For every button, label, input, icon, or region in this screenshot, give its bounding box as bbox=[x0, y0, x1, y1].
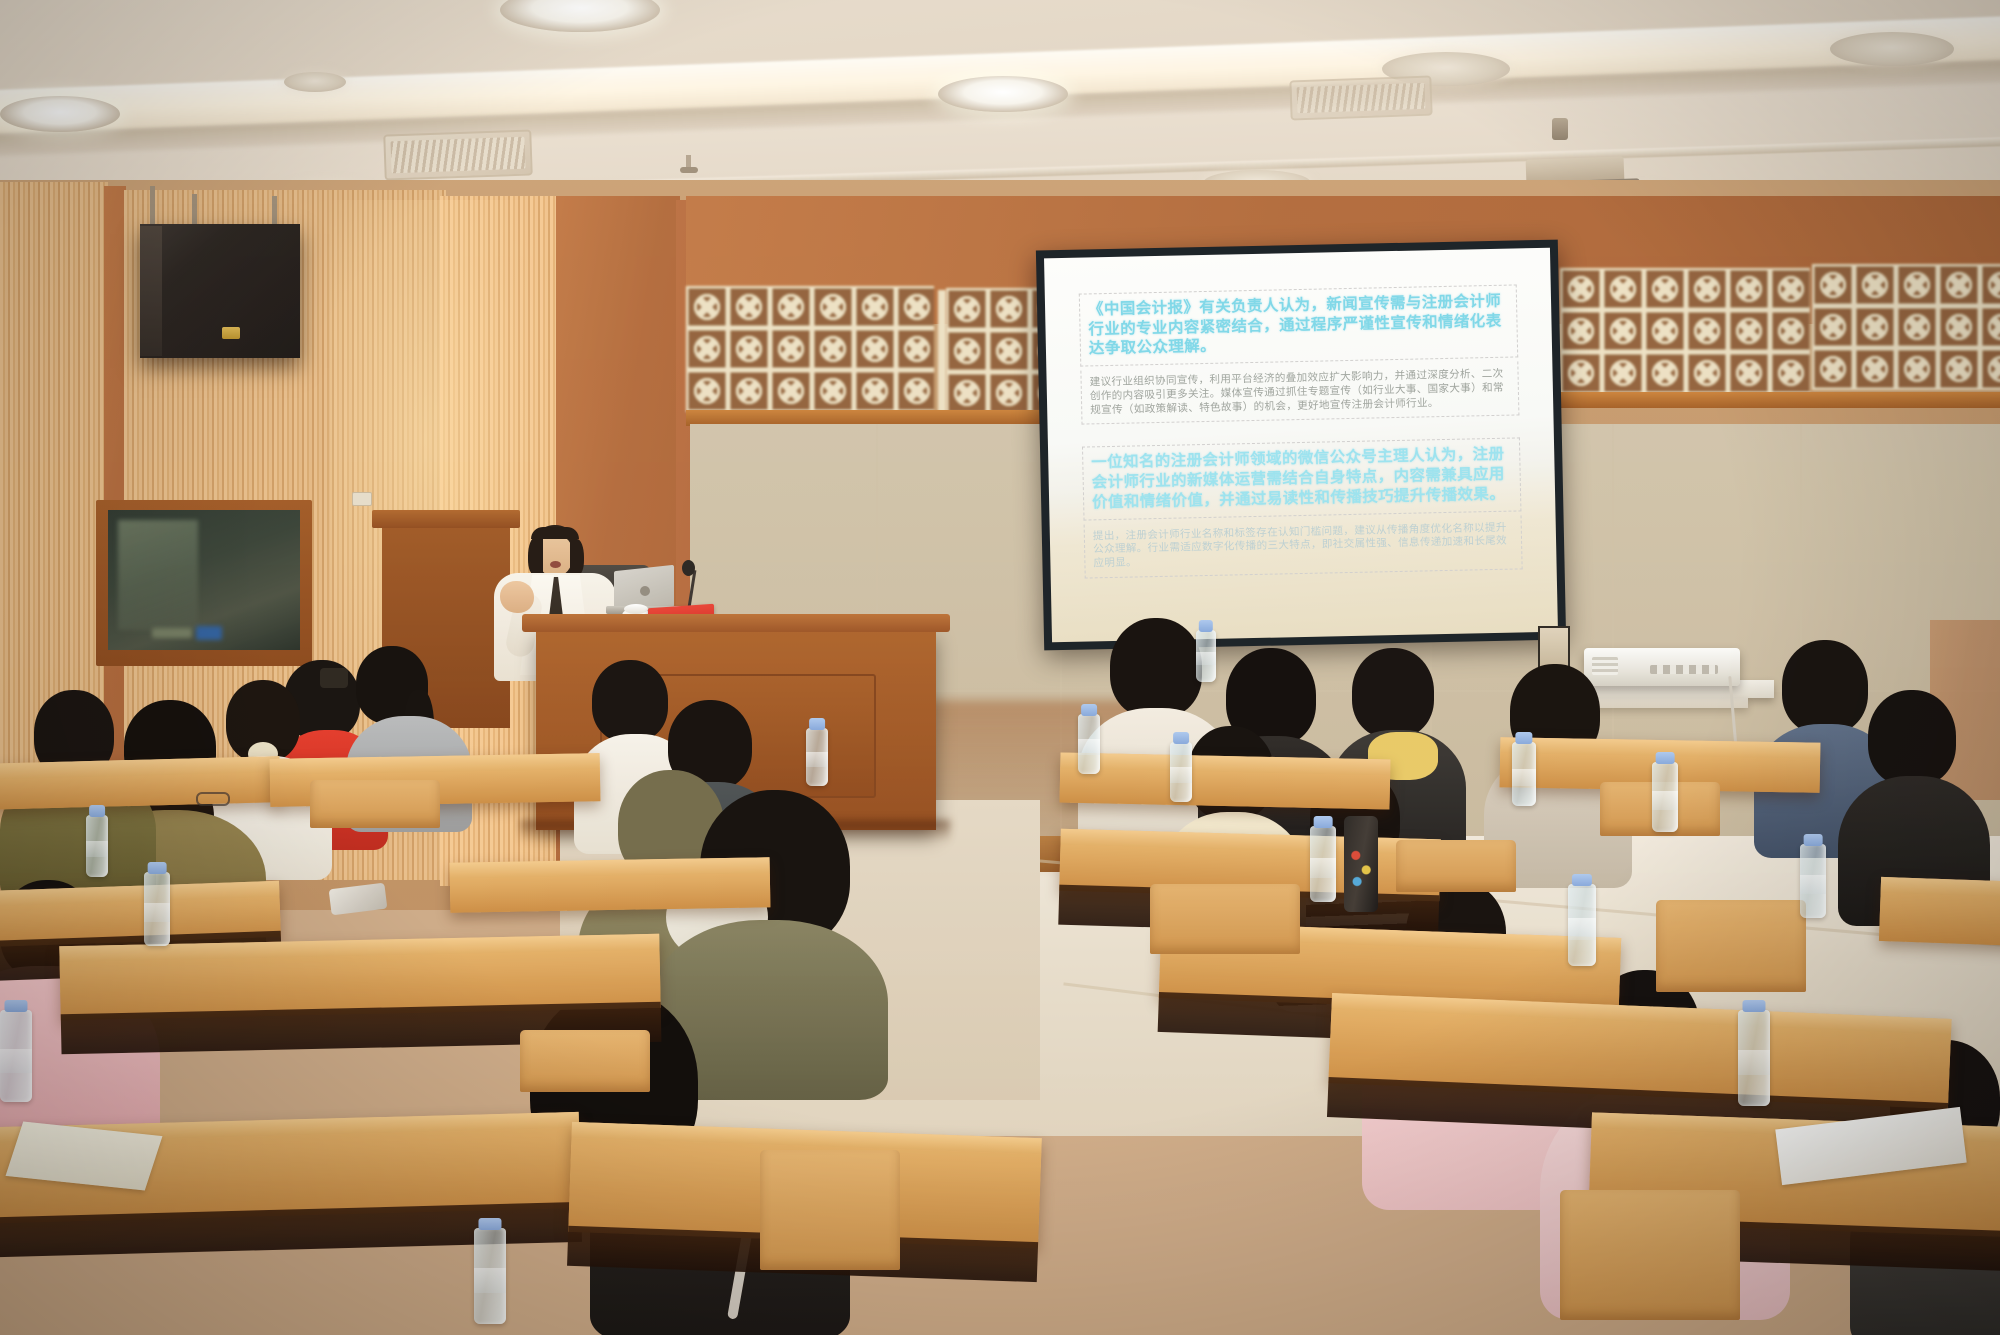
bottle-label bbox=[1310, 858, 1336, 878]
presenter-hair bbox=[528, 537, 543, 575]
bottle-label bbox=[1568, 918, 1596, 939]
hvac-diffuser bbox=[1289, 76, 1432, 121]
water-bottle bbox=[1310, 826, 1336, 902]
thermos-pattern bbox=[1348, 838, 1374, 896]
water-bottle bbox=[1568, 884, 1596, 966]
bottle-label bbox=[1800, 875, 1826, 894]
bottle-label bbox=[1078, 739, 1100, 755]
slide-block-2: 一位知名的注册会计师领域的微信公众号主理人认为，注册会计师行业的新媒体运营需结合… bbox=[1082, 438, 1521, 520]
water-bottle bbox=[86, 815, 108, 877]
bottle-label bbox=[144, 903, 170, 922]
slide-block-1-highlight: 《中国会计报》有关负责人认为，新闻宣传需与注册会计师行业的专业内容紧密结合，通过… bbox=[1088, 292, 1509, 360]
bottle-label bbox=[1512, 769, 1536, 786]
attendee-hair-clip-icon bbox=[320, 668, 348, 688]
desk-front bbox=[1879, 893, 2000, 947]
bottle-label bbox=[1170, 767, 1192, 783]
window-equipment bbox=[152, 628, 192, 638]
ceiling-downlight bbox=[938, 76, 1068, 112]
slide-block-1: 《中国会计报》有关负责人认为，新闻宣传需与注册会计师行业的专业内容紧密结合，通过… bbox=[1079, 284, 1518, 366]
chair-back bbox=[1396, 840, 1516, 892]
water-bottle bbox=[1196, 630, 1216, 682]
slide-content: 《中国会计报》有关负责人认为，新闻宣传需与注册会计师行业的专业内容紧密结合，通过… bbox=[1044, 248, 1558, 643]
projection-screen[interactable]: 《中国会计报》有关负责人认为，新闻宣传需与注册会计师行业的专业内容紧密结合，通过… bbox=[1036, 240, 1566, 651]
fire-sprinkler-icon bbox=[680, 155, 698, 179]
lattice-screen bbox=[1812, 264, 2000, 390]
loudspeaker bbox=[140, 224, 300, 358]
bottle-cap-icon bbox=[4, 1000, 27, 1012]
attendee-head bbox=[1352, 648, 1434, 738]
loudspeaker-side bbox=[140, 226, 162, 356]
chair-back bbox=[1560, 1190, 1740, 1320]
desk bbox=[1879, 877, 2000, 947]
wall-outlet[interactable] bbox=[352, 492, 372, 506]
water-bottle bbox=[474, 1228, 506, 1324]
bottle-cap-icon bbox=[1173, 732, 1189, 744]
screen-surface: 《中国会计报》有关负责人认为，新闻宣传需与注册会计师行业的专业内容紧密结合，通过… bbox=[1044, 248, 1558, 643]
bottle-cap-icon bbox=[1572, 874, 1592, 886]
attendee-head bbox=[1868, 690, 1956, 786]
desk-front bbox=[450, 873, 771, 913]
water-bottle bbox=[1170, 742, 1192, 802]
water-bottle bbox=[1800, 844, 1826, 918]
lattice-screen bbox=[938, 290, 946, 412]
lattice-screen bbox=[686, 286, 934, 412]
bottle-cap-icon bbox=[1199, 620, 1213, 632]
desk-front bbox=[1060, 769, 1391, 810]
attendee-head bbox=[1782, 640, 1868, 734]
bottle-cap-icon bbox=[148, 862, 167, 874]
bottle-cap-icon bbox=[1804, 834, 1823, 846]
microphone-head-icon bbox=[682, 560, 695, 576]
desk bbox=[0, 881, 281, 947]
bottle-label bbox=[0, 1049, 32, 1073]
eyeglasses-icon bbox=[196, 792, 230, 806]
lattice-sill bbox=[1556, 392, 2000, 408]
bottle-label bbox=[1738, 1050, 1770, 1075]
desk bbox=[59, 934, 660, 1021]
chair-back bbox=[1656, 900, 1806, 992]
attendee-head bbox=[592, 660, 668, 742]
window-equipment bbox=[196, 626, 222, 640]
bottle-cap-icon bbox=[1742, 1000, 1765, 1012]
water-bottle bbox=[1078, 714, 1100, 774]
bottle-cap-icon bbox=[1515, 732, 1532, 744]
bottle-cap-icon bbox=[89, 805, 105, 817]
bottle-label bbox=[474, 1268, 506, 1293]
fire-sprinkler-icon bbox=[1552, 118, 1568, 140]
bottle-label bbox=[86, 841, 108, 857]
chair-back bbox=[760, 1150, 900, 1270]
attendee-head bbox=[1110, 618, 1202, 718]
bottle-cap-icon bbox=[478, 1218, 501, 1230]
ceiling-downlight bbox=[1830, 32, 1954, 66]
window-reflection bbox=[118, 520, 198, 630]
bottle-label bbox=[1196, 652, 1216, 666]
laptop-logo-icon bbox=[640, 586, 650, 596]
water-bottle bbox=[0, 1010, 32, 1102]
desk bbox=[450, 857, 771, 913]
water-bottle bbox=[144, 872, 170, 946]
teacup-lid bbox=[624, 604, 648, 614]
slide-block-2-body-box: 提出，注册会计师行业名称和标签存在认知门槛问题，建议从传播角度优化名称以提升公众… bbox=[1084, 515, 1523, 578]
desk bbox=[0, 756, 281, 810]
chair-back bbox=[1150, 884, 1300, 954]
slide-block-1-body-box: 建议行业组织协同宣传，利用平台经济的叠加效应扩大影响力，并通过深度分析、二次创作… bbox=[1080, 362, 1519, 425]
bottle-cap-icon bbox=[1081, 704, 1097, 716]
water-bottle bbox=[806, 728, 828, 786]
slide-block-1-body: 建议行业组织协同宣传，利用平台经济的叠加效应扩大影响力，并通过深度分析、二次创作… bbox=[1090, 368, 1511, 418]
bottle-cap-icon bbox=[809, 718, 825, 730]
lecture-hall-photo: 《中国会计报》有关负责人认为，新闻宣传需与注册会计师行业的专业内容紧密结合，通过… bbox=[0, 0, 2000, 1335]
water-bottle bbox=[1652, 762, 1678, 832]
slide-block-2-body: 提出，注册会计师行业名称和标签存在认知门槛问题，建议从传播角度优化名称以提升公众… bbox=[1093, 521, 1514, 571]
ceiling-downlight bbox=[0, 96, 120, 132]
water-bottle bbox=[1738, 1010, 1770, 1106]
presenter-mouth bbox=[550, 561, 561, 568]
chair-back bbox=[520, 1030, 650, 1092]
slide-block-2-highlight: 一位知名的注册会计师领域的微信公众号主理人认为，注册会计师行业的新媒体运营需结合… bbox=[1091, 445, 1512, 513]
presenter-hand bbox=[500, 581, 534, 613]
water-bottle bbox=[1512, 742, 1536, 806]
bottle-label bbox=[806, 752, 828, 767]
projector[interactable] bbox=[1584, 648, 1740, 686]
chair-back bbox=[310, 780, 440, 828]
podium-cap bbox=[522, 614, 950, 632]
ceiling-downlight bbox=[284, 72, 346, 92]
bottle-cap-icon bbox=[1656, 752, 1675, 764]
loudspeaker-badge-icon bbox=[222, 327, 240, 339]
projector-vents-icon bbox=[1592, 657, 1618, 675]
desk bbox=[1060, 753, 1391, 810]
projector-ports-icon bbox=[1650, 665, 1719, 673]
hvac-diffuser bbox=[383, 129, 533, 180]
smartphone[interactable] bbox=[329, 883, 388, 916]
lattice-screen bbox=[1560, 268, 1810, 394]
bottle-cap-icon bbox=[1314, 816, 1333, 828]
bottle-label bbox=[1652, 791, 1678, 809]
presenter-hair bbox=[570, 539, 584, 575]
